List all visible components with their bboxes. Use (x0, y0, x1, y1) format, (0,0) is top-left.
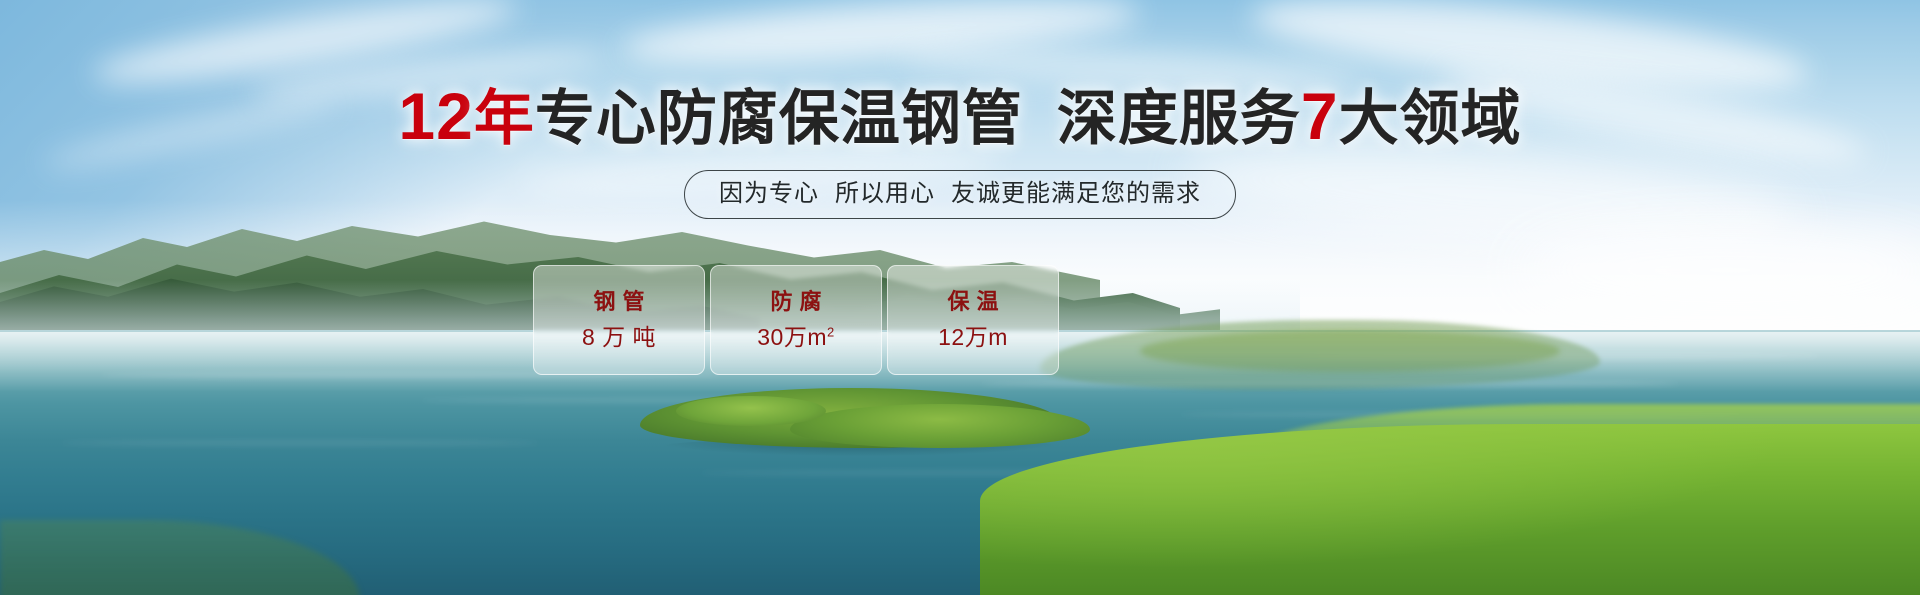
stat-card-label: 钢管 (586, 285, 651, 319)
subtitle-part-3: 友诚更能满足您的需求 (951, 180, 1201, 207)
headline-service-text: 深度服务 (1057, 85, 1301, 152)
banner-headline: 12年专心防腐保温钢管深度服务7大领域 (0, 82, 1920, 153)
stat-cards-group: 钢管 8 万 吨 防腐 30万m2 保温 12万m (533, 265, 1059, 375)
promo-banner: 12年专心防腐保温钢管深度服务7大领域 因为专心所以用心友诚更能满足您的需求 钢… (0, 0, 1920, 595)
stat-value-superscript: 2 (827, 324, 835, 339)
stat-card-value: 8 万 吨 (582, 319, 656, 355)
stat-card-anticorrosion: 防腐 30万m2 (710, 265, 882, 375)
stat-card-label: 防腐 (763, 285, 828, 319)
stat-value-text: 8 万 吨 (582, 324, 656, 350)
headline-fields-number: 7 (1301, 79, 1339, 153)
marsh-area (1140, 330, 1560, 372)
stat-value-text: 30万m (757, 324, 827, 350)
water-ripple (60, 440, 540, 446)
stat-card-value: 30万m2 (757, 319, 834, 355)
stat-value-text: 12万m (938, 324, 1008, 350)
headline-years-number: 12 (398, 79, 473, 153)
subtitle-pill: 因为专心所以用心友诚更能满足您的需求 (684, 170, 1236, 219)
grass-foreground (980, 424, 1920, 595)
headline-years-unit: 年 (474, 85, 535, 152)
headline-main-text: 专心防腐保温钢管 (535, 85, 1023, 152)
grass-island (790, 404, 1090, 448)
grass-island (676, 396, 826, 426)
subtitle-part-2: 所以用心 (835, 180, 935, 207)
stat-card-insulation: 保温 12万m (887, 265, 1059, 375)
stat-card-steel-pipe: 钢管 8 万 吨 (533, 265, 705, 375)
stat-card-label: 保温 (940, 285, 1005, 319)
subtitle-part-1: 因为专心 (719, 180, 819, 207)
stat-card-value: 12万m (938, 319, 1008, 355)
headline-fields-text: 大领域 (1339, 85, 1522, 152)
